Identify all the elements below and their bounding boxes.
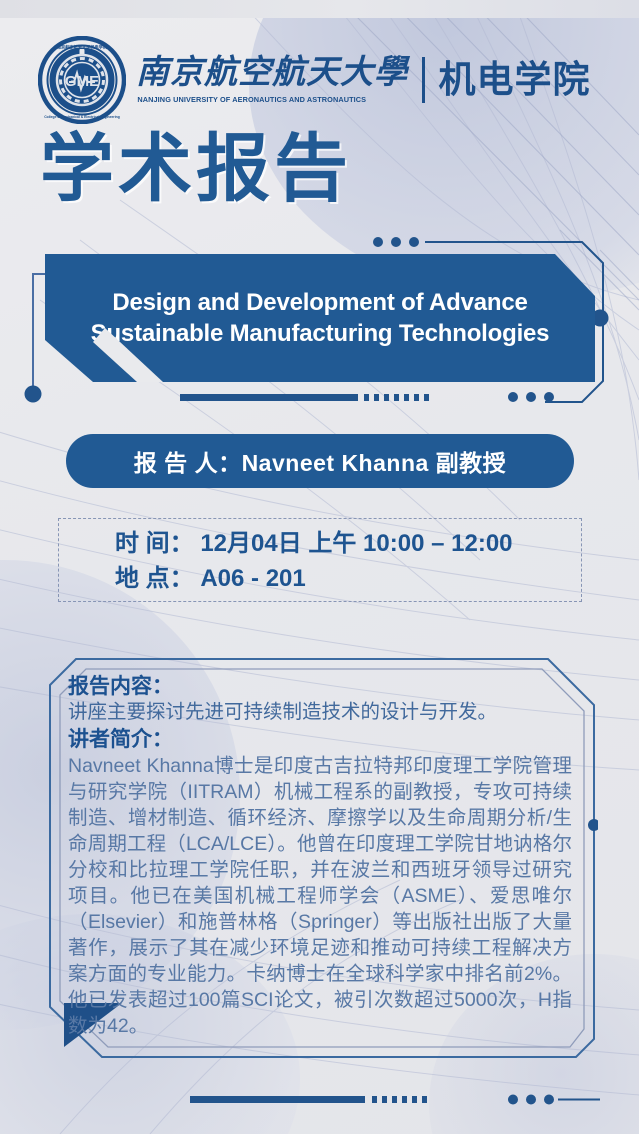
university-name-en: NANJING UNIVERSITY OF AERONAUTICS AND AS…: [137, 95, 406, 104]
deco-dot-left: [25, 386, 42, 403]
topic-banner: Design and Development of Advance Sustai…: [45, 254, 595, 382]
abstract-heading: 报告内容：: [68, 673, 572, 700]
event-details-box: 时 间： 12月04日 上午 10:00 – 12:00 地 点： A06 - …: [58, 518, 582, 602]
university-wordmark: 南京航空航天大學 NANJING UNIVERSITY OF AERONAUTI…: [136, 57, 591, 104]
speaker-label: 报 告 人：Navneet Khanna 副教授: [134, 444, 506, 478]
abstract-text: 讲座主要探讨先进可持续制造技术的设计与开发。: [68, 700, 572, 726]
university-logo: GME 南京航空航天大学机电学院 College of Mechanical &…: [38, 36, 126, 124]
deco-dot: [391, 237, 401, 247]
header-divider: [422, 57, 425, 103]
svg-text:College of Mechanical & Electr: College of Mechanical & Electrical Engin…: [44, 115, 120, 119]
deco-dot: [508, 1095, 518, 1105]
event-time: 时 间： 12月04日 上午 10:00 – 12:00: [115, 527, 581, 562]
event-place: 地 点： A06 - 201: [115, 562, 581, 597]
deco-dot: [526, 392, 536, 402]
deco-dot: [526, 1095, 536, 1105]
deco-dot: [544, 392, 554, 402]
deco-dashes: [364, 394, 429, 401]
nuaa-gme-emblem-icon: GME 南京航空航天大学机电学院 College of Mechanical &…: [38, 36, 126, 124]
poster-header: GME 南京航空航天大学机电学院 College of Mechanical &…: [38, 36, 591, 124]
bio-text: Navneet Khanna博士是印度古吉拉特邦印度理工学院管理与研究学院（II…: [68, 754, 572, 1039]
bio-heading: 讲者简介：: [68, 726, 572, 753]
topic-line-2: Sustainable Manufacturing Technologies: [91, 318, 550, 349]
deco-dot: [544, 1095, 554, 1105]
deco-dot: [409, 237, 419, 247]
deco-bar: [180, 394, 358, 401]
topic-banner-area: Design and Development of Advance Sustai…: [0, 236, 639, 406]
speaker-pill: 报 告 人：Navneet Khanna 副教授: [66, 434, 574, 488]
top-band: [0, 0, 639, 18]
content-text: 报告内容： 讲座主要探讨先进可持续制造技术的设计与开发。 讲者简介： Navne…: [68, 673, 572, 1039]
bottom-decoration: [0, 1092, 639, 1106]
svg-text:南京航空航天大学机电学院: 南京航空航天大学机电学院: [57, 44, 108, 51]
deco-dashes: [372, 1096, 427, 1103]
university-name-cn: 南京航空航天大學: [136, 57, 408, 90]
content-section: 报告内容： 讲座主要探讨先进可持续制造技术的设计与开发。 讲者简介： Navne…: [42, 655, 598, 1067]
topic-line-1: Design and Development of Advance: [91, 287, 550, 318]
college-name-cn: 机电学院: [439, 62, 591, 99]
deco-bar: [190, 1096, 365, 1103]
page-title: 学术报告: [40, 132, 352, 206]
deco-dot: [508, 392, 518, 402]
deco-dot: [373, 237, 383, 247]
topic-title: Design and Development of Advance Sustai…: [67, 287, 574, 349]
